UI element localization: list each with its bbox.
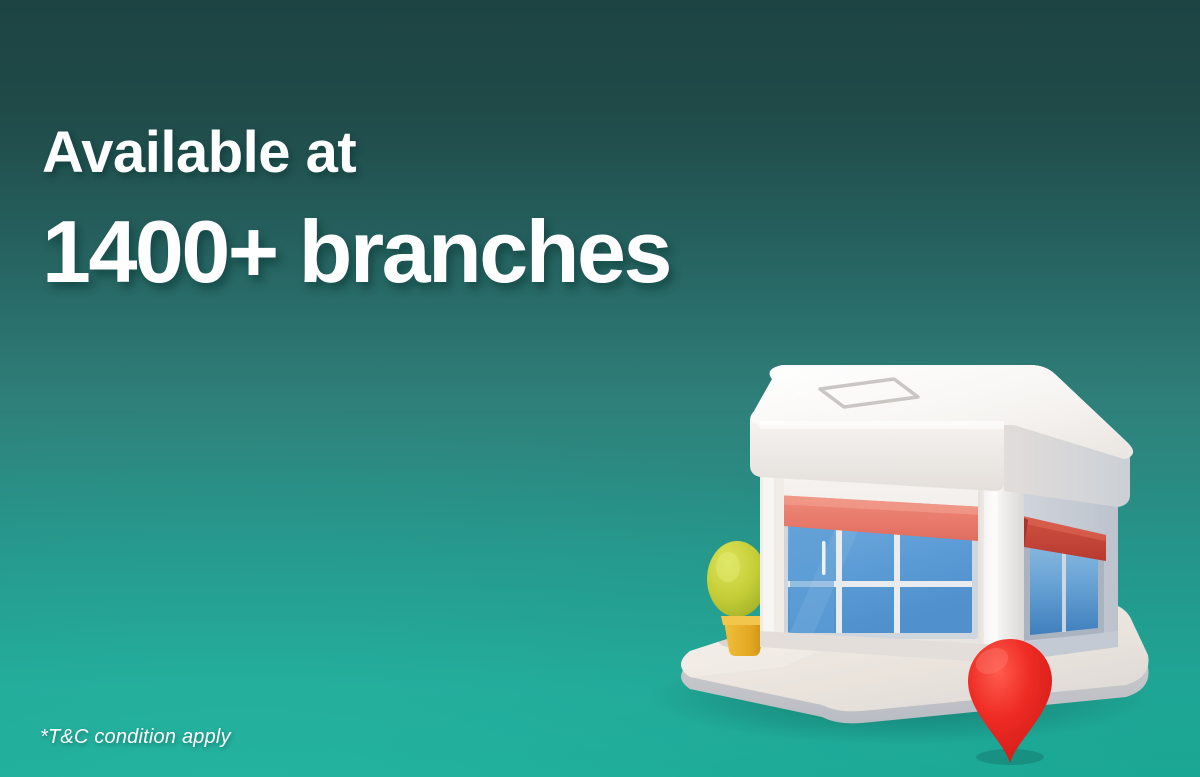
storefront-building (750, 365, 1133, 663)
headline-large: 1400+ branches (42, 208, 670, 296)
headline-group: Available at 1400+ branches (42, 124, 670, 296)
disclaimer-text: *T&C condition apply (40, 726, 231, 749)
storefront-illustration (632, 345, 1192, 777)
plant-foliage (707, 541, 767, 617)
promo-banner: Available at 1400+ branches *T&C conditi… (0, 0, 1200, 777)
headline-small: Available at (42, 124, 670, 182)
map-pin-marker (968, 639, 1052, 765)
plant-pot (724, 621, 766, 656)
